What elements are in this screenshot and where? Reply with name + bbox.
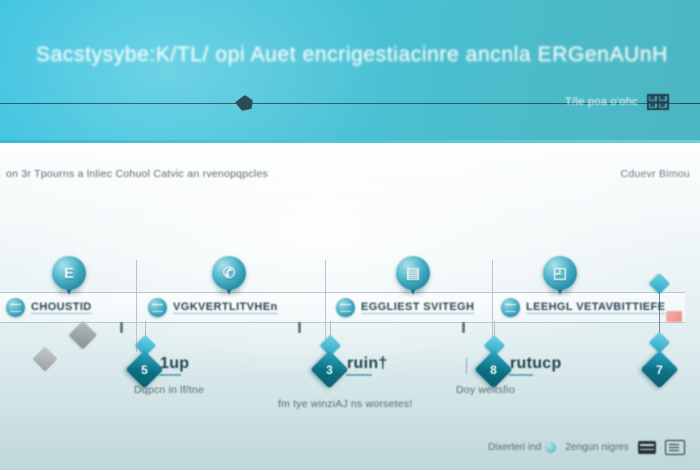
footer-label: 2engun nigres [565,442,628,453]
footer-label: Dixerteri ind [488,442,541,453]
branch-subtitle-3: Doy weltsfio [456,384,515,396]
pin-marker-document[interactable]: E [52,256,86,296]
globe-dot-icon [545,442,556,453]
band-cell-2[interactable]: VGKVERTLITVHEn [148,297,278,317]
branch-tick-3 [462,322,465,333]
banner-bottom-edge [0,140,700,143]
pin-marker-card[interactable]: ▤ [396,256,430,296]
subtitle-right: Cduevr Bimou [620,168,690,180]
branch-title-1: 1up [160,355,189,373]
link-circle-icon [6,298,25,317]
pin-glyph: ◰ [543,256,577,290]
branch-subtitle-1: Dqpcn in lf/tne [134,384,204,396]
footer-item-2[interactable]: 2engun nigres [565,442,628,453]
branch-underline-3 [509,374,533,376]
band-cell-4[interactable]: LEEHGL VETAVBITTIEFE [501,297,665,317]
header-divider-tail [678,103,700,104]
branch-subtitle-2: fm tye winziAJ ns worsetes! [278,398,412,410]
band-cell-label: LEEHGL VETAVBITTIEFE [526,301,665,314]
header-rule-label: T/le poa o'ohc [565,96,638,108]
header-right-group: T/le poa o'ohc [565,94,669,110]
branch-node-number-3: 8 [480,356,507,383]
pink-status-chip[interactable] [666,311,682,322]
slide-canvas: Sacstysybe:K/TL/ opi Auet encrigestiacin… [0,0,700,470]
pin-marker-globe[interactable]: ✆ [212,256,246,296]
branch-node-number-4: 7 [646,356,673,383]
header-banner: Sacstysybe:K/TL/ opi Auet encrigestiacin… [0,0,700,143]
branch-underline-1 [159,374,181,376]
list-icon[interactable] [665,440,685,455]
page-title: Sacstysybe:K/TL/ opi Auet encrigestiacin… [36,43,666,67]
pin-marker-chart[interactable]: ◰ [543,256,577,296]
band-cell-label: VGKVERTLITVHEn [173,301,278,314]
branch-pipe-3 [466,358,467,374]
band-divider-1 [136,260,137,352]
diamond-marker-icon [235,95,253,111]
badge-circle-icon [336,298,355,317]
band-cell-label: CHOUSTID [31,301,92,314]
branch-node-number-2: 3 [316,356,343,383]
branch-title-2: ruin† [347,355,388,373]
branch-underline-2 [346,374,372,376]
branch-tick-1 [120,322,123,333]
pin-glyph: ✆ [212,256,246,290]
swirl-circle-icon [501,298,520,317]
cabinet-icon[interactable] [638,441,656,454]
branch-node-number-1: 5 [131,356,158,383]
footer-bar: Dixerteri ind 2engun nigres [488,440,685,455]
pin-glyph: ▤ [396,256,430,290]
table-grid-icon[interactable] [647,94,669,110]
subtitle-left: on 3r Tpourns a lnliec Cohuol Catvic an … [6,168,268,180]
subtitle-row: on 3r Tpourns a lnliec Cohuol Catvic an … [0,168,700,184]
band-cell-3[interactable]: EGGLIEST SVITEGH [336,297,474,317]
branch-tick-2 [298,322,301,333]
pin-glyph: E [52,256,86,290]
branch-title-3: rutucp [510,355,562,373]
band-cell-label: EGGLIEST SVITEGH [361,301,474,314]
band-cell-1[interactable]: CHOUSTID [6,297,92,317]
footer-item-1[interactable]: Dixerteri ind [488,442,556,453]
doc-circle-icon [148,298,167,317]
